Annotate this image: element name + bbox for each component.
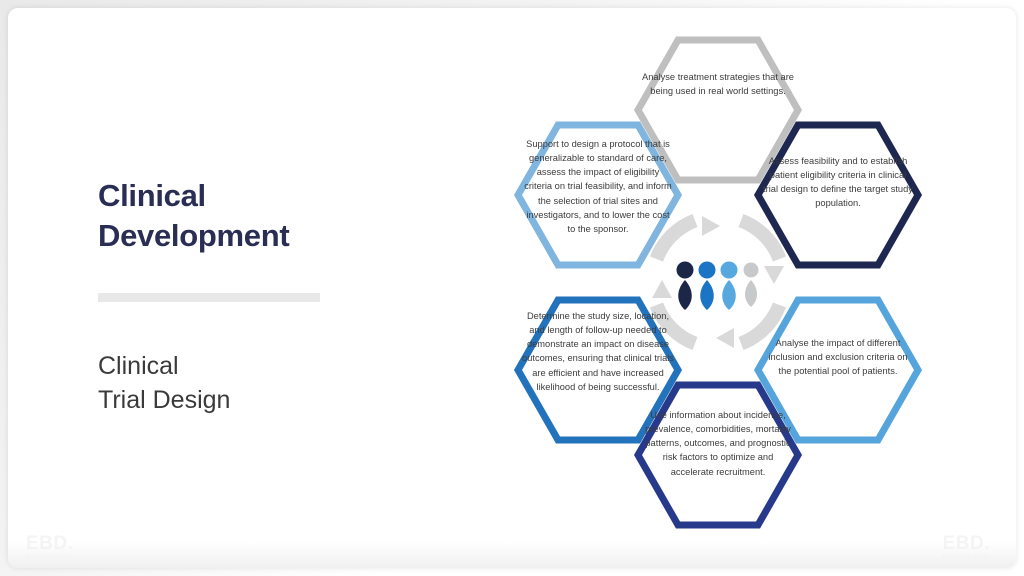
title-block: Clinical Development <box>98 176 428 255</box>
watermark-tagline: Economically Design <box>26 555 73 560</box>
hex-top-outline[interactable] <box>638 40 798 180</box>
watermark-right: EBD. Economically Design <box>943 534 990 560</box>
hex-upper-right-outline[interactable] <box>758 125 918 265</box>
honeycomb-diagram: Analyse treatment strategies that are be… <box>448 26 988 566</box>
slide-card: Clinical Development Clinical Trial Desi… <box>8 8 1016 568</box>
watermark-logo-text: EBD. <box>943 534 990 553</box>
hex-lower-left-outline[interactable] <box>518 300 678 440</box>
slide-canvas: Clinical Development Clinical Trial Desi… <box>0 0 1024 576</box>
subtitle-block: Clinical Trial Design <box>98 350 428 418</box>
watermark-tagline: Economically Design <box>943 555 990 560</box>
hex-lower-right-outline[interactable] <box>758 300 918 440</box>
honeycomb-svg <box>448 26 988 566</box>
title-divider <box>98 293 320 302</box>
watermark-left: EBD. Economically Design <box>26 534 73 560</box>
hex-bottom-outline[interactable] <box>638 385 798 525</box>
page-subtitle: Clinical Trial Design <box>98 350 428 418</box>
hex-upper-left-outline[interactable] <box>518 125 678 265</box>
watermark-logo-text: EBD. <box>26 534 73 553</box>
page-title: Clinical Development <box>98 176 428 255</box>
